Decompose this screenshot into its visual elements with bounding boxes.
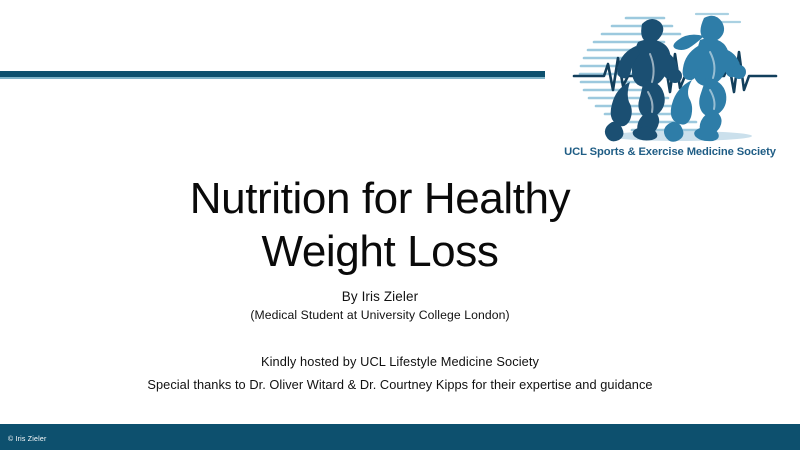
- page-title-line-1: Nutrition for Healthy: [100, 172, 660, 225]
- footer-bar: © Iris Zieler: [0, 424, 800, 450]
- page-title: Nutrition for Healthy Weight Loss: [100, 172, 660, 278]
- header-accent-rule-thin: [0, 77, 545, 79]
- acknowledgements-block: Kindly hosted by UCL Lifestyle Medicine …: [80, 352, 720, 393]
- title-slide: UCL Sports & Exercise Medicine Society N…: [0, 0, 800, 450]
- host-credit: Kindly hosted by UCL Lifestyle Medicine …: [80, 352, 720, 372]
- running-figures-ecg-logo-icon: [568, 2, 783, 142]
- logo-caption: UCL Sports & Exercise Medicine Society: [540, 146, 800, 158]
- special-thanks-credit: Special thanks to Dr. Oliver Witard & Dr…: [80, 377, 720, 393]
- society-logo: UCL Sports & Exercise Medicine Society: [540, 2, 800, 170]
- copyright-text: © Iris Zieler: [8, 436, 46, 443]
- author-name: By Iris Zieler: [100, 287, 660, 306]
- page-title-line-2: Weight Loss: [100, 225, 660, 278]
- byline-block: By Iris Zieler (Medical Student at Unive…: [100, 287, 660, 325]
- author-affiliation: (Medical Student at University College L…: [100, 306, 660, 325]
